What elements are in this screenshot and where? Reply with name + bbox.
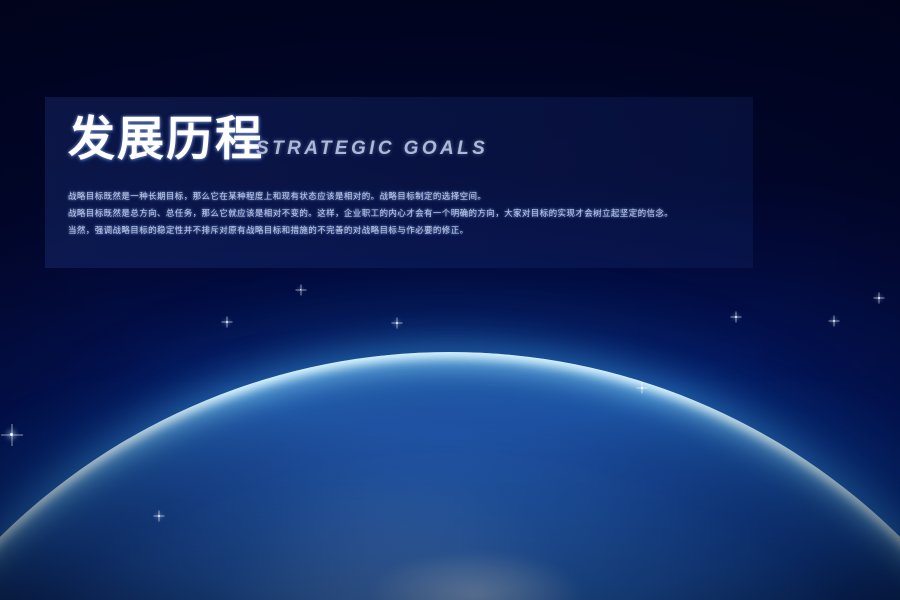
banner-stage: 发展历程 STRATEGIC GOALS 战略目标既然是一种长期目标，那么它在某… [0,0,900,600]
headline-group: 发展历程 STRATEGIC GOALS [68,116,488,163]
vignette-overlay [0,0,900,600]
body-line: 战略目标既然是总方向、总任务，那么它就应该是相对不变的。这样，企业职工的内心才会… [68,206,768,223]
body-line: 当然，强调战略目标的稳定性并不排斥对原有战略目标和措施的不完善的对战略目标与作必… [68,223,768,240]
body-line: 战略目标既然是一种长期目标，那么它在某种程度上和现有状态应该是相对的。战略目标制… [68,189,768,206]
page-title: 发展历程 [68,116,264,163]
body-copy: 战略目标既然是一种长期目标，那么它在某种程度上和现有状态应该是相对的。战略目标制… [68,189,768,240]
page-subtitle: STRATEGIC GOALS [256,138,488,160]
